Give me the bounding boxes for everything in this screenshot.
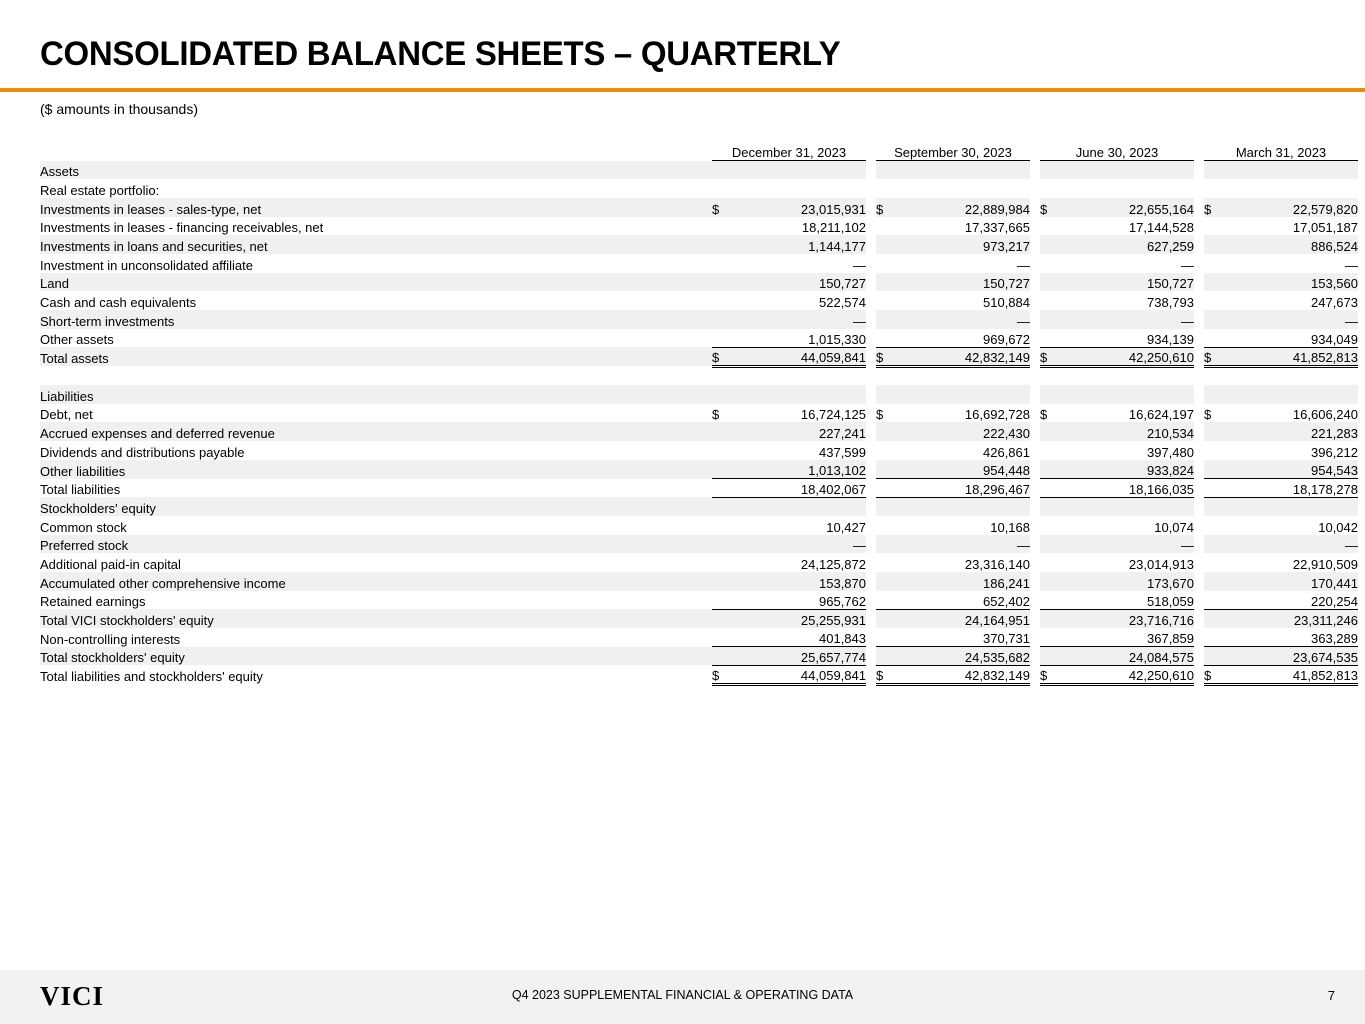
- value-cell: 24,535,682: [898, 647, 1030, 666]
- column-gap: [866, 273, 876, 292]
- currency-symbol-cell: [1040, 609, 1062, 628]
- currency-symbol-cell: [1040, 460, 1062, 479]
- table-row: Other assets1,015,330969,672934,139934,0…: [40, 329, 1358, 348]
- column-gap: [1030, 385, 1040, 404]
- column-gap: [866, 572, 876, 591]
- value-cell: —: [1226, 254, 1358, 273]
- currency-symbol-cell: [876, 329, 898, 348]
- value-cell: 16,606,240: [1226, 404, 1358, 423]
- currency-symbol-cell: [1204, 217, 1226, 236]
- table-row: Accumulated other comprehensive income15…: [40, 572, 1358, 591]
- row-label: Total stockholders' equity: [40, 647, 712, 666]
- row-label: Preferred stock: [40, 535, 712, 554]
- currency-symbol-cell: [876, 609, 898, 628]
- currency-symbol-cell: $: [712, 347, 734, 366]
- value-cell: [734, 161, 866, 180]
- value-cell: 24,164,951: [898, 609, 1030, 628]
- value-cell: 965,762: [734, 591, 866, 610]
- currency-symbol-cell: [712, 291, 734, 310]
- currency-symbol-cell: [876, 553, 898, 572]
- value-cell: 10,042: [1226, 516, 1358, 535]
- value-cell: 17,144,528: [1062, 217, 1194, 236]
- value-cell: 10,168: [898, 516, 1030, 535]
- table-row: Common stock10,42710,16810,07410,042: [40, 516, 1358, 535]
- value-cell: 426,861: [898, 441, 1030, 460]
- value-cell: 397,480: [1062, 441, 1194, 460]
- currency-symbol-cell: [1204, 329, 1226, 348]
- table-row: Accrued expenses and deferred revenue227…: [40, 422, 1358, 441]
- value-cell: 22,655,164: [1062, 198, 1194, 217]
- row-label: Dividends and distributions payable: [40, 441, 712, 460]
- value-cell: 23,674,535: [1226, 647, 1358, 666]
- column-gap: [1030, 609, 1040, 628]
- row-label: Accrued expenses and deferred revenue: [40, 422, 712, 441]
- value-cell: 22,910,509: [1226, 553, 1358, 572]
- column-gap: [1030, 404, 1040, 423]
- currency-symbol-cell: [876, 591, 898, 610]
- column-gap: [1030, 198, 1040, 217]
- column-gap: [1030, 217, 1040, 236]
- currency-symbol-cell: $: [1040, 198, 1062, 217]
- row-label: Additional paid-in capital: [40, 553, 712, 572]
- value-cell: [734, 179, 866, 198]
- units-note: ($ amounts in thousands): [40, 99, 198, 119]
- column-gap: [1030, 347, 1040, 366]
- value-cell: [1226, 497, 1358, 516]
- column-gap: [1194, 647, 1204, 666]
- column-gap: [1030, 516, 1040, 535]
- value-cell: 42,250,610: [1062, 347, 1194, 366]
- value-cell: 227,241: [734, 422, 866, 441]
- value-cell: 221,283: [1226, 422, 1358, 441]
- column-gap: [1030, 628, 1040, 647]
- currency-symbol-cell: [712, 535, 734, 554]
- currency-symbol-cell: [712, 161, 734, 180]
- row-label: Other assets: [40, 329, 712, 348]
- currency-symbol-cell: [1204, 291, 1226, 310]
- currency-symbol-cell: $: [1204, 347, 1226, 366]
- currency-symbol-cell: [1204, 273, 1226, 292]
- value-cell: [734, 497, 866, 516]
- currency-symbol-cell: $: [712, 404, 734, 423]
- currency-symbol-cell: [712, 516, 734, 535]
- value-cell: 150,727: [898, 273, 1030, 292]
- value-cell: 738,793: [1062, 291, 1194, 310]
- value-cell: 22,889,984: [898, 198, 1030, 217]
- currency-symbol-cell: [712, 179, 734, 198]
- currency-symbol-cell: $: [876, 665, 898, 684]
- currency-symbol-cell: [1204, 422, 1226, 441]
- column-gap: [866, 647, 876, 666]
- currency-symbol-cell: [712, 572, 734, 591]
- column-gap: [1194, 179, 1204, 198]
- currency-symbol-cell: [876, 497, 898, 516]
- currency-symbol-cell: [876, 647, 898, 666]
- value-cell: [1062, 385, 1194, 404]
- value-cell: 627,259: [1062, 235, 1194, 254]
- column-gap: [1194, 273, 1204, 292]
- value-cell: —: [734, 254, 866, 273]
- row-label: Assets: [40, 161, 712, 180]
- value-cell: 150,727: [734, 273, 866, 292]
- table-row: Short-term investments————: [40, 310, 1358, 329]
- value-cell: 210,534: [1062, 422, 1194, 441]
- column-gap: [866, 217, 876, 236]
- column-gap: [1030, 479, 1040, 498]
- value-cell: 10,427: [734, 516, 866, 535]
- header-gap: [1194, 138, 1204, 161]
- value-cell: [734, 385, 866, 404]
- currency-symbol-cell: [1204, 516, 1226, 535]
- column-gap: [1030, 572, 1040, 591]
- value-cell: 170,441: [1226, 572, 1358, 591]
- value-cell: 886,524: [1226, 235, 1358, 254]
- currency-symbol-cell: [1040, 479, 1062, 498]
- row-label: Retained earnings: [40, 591, 712, 610]
- value-cell: 23,014,913: [1062, 553, 1194, 572]
- column-gap: [1194, 497, 1204, 516]
- currency-symbol-cell: $: [1040, 347, 1062, 366]
- value-cell: 173,670: [1062, 572, 1194, 591]
- table-row: Cash and cash equivalents522,574510,8847…: [40, 291, 1358, 310]
- currency-symbol-cell: [712, 647, 734, 666]
- currency-symbol-cell: [1204, 310, 1226, 329]
- currency-symbol-cell: [712, 460, 734, 479]
- value-cell: [1062, 179, 1194, 198]
- column-gap: [1194, 479, 1204, 498]
- currency-symbol-cell: [1040, 254, 1062, 273]
- value-cell: 22,579,820: [1226, 198, 1358, 217]
- page-title: CONSOLIDATED BALANCE SHEETS – QUARTERLY: [40, 32, 840, 76]
- value-cell: 24,084,575: [1062, 647, 1194, 666]
- value-cell: 969,672: [898, 329, 1030, 348]
- currency-symbol-cell: [876, 422, 898, 441]
- value-cell: —: [898, 535, 1030, 554]
- column-gap: [1194, 591, 1204, 610]
- value-cell: 41,852,813: [1226, 347, 1358, 366]
- column-gap: [866, 291, 876, 310]
- currency-symbol-cell: $: [876, 404, 898, 423]
- column-gap: [1194, 217, 1204, 236]
- column-gap: [1030, 235, 1040, 254]
- currency-symbol-cell: [1040, 497, 1062, 516]
- value-cell: 401,843: [734, 628, 866, 647]
- value-cell: —: [1226, 310, 1358, 329]
- currency-symbol-cell: $: [876, 347, 898, 366]
- table-row: Investments in loans and securities, net…: [40, 235, 1358, 254]
- currency-symbol-cell: [712, 609, 734, 628]
- value-cell: 16,624,197: [1062, 404, 1194, 423]
- table-row: Total VICI stockholders' equity25,255,93…: [40, 609, 1358, 628]
- value-cell: 24,125,872: [734, 553, 866, 572]
- table-row: Assets: [40, 161, 1358, 180]
- column-gap: [866, 385, 876, 404]
- column-gap: [1194, 385, 1204, 404]
- value-cell: —: [1062, 535, 1194, 554]
- currency-symbol-cell: [1040, 591, 1062, 610]
- value-cell: 954,448: [898, 460, 1030, 479]
- currency-symbol-cell: [712, 385, 734, 404]
- value-cell: 18,402,067: [734, 479, 866, 498]
- value-cell: 222,430: [898, 422, 1030, 441]
- row-label: Land: [40, 273, 712, 292]
- currency-symbol-cell: $: [1040, 665, 1062, 684]
- column-gap: [866, 628, 876, 647]
- currency-symbol-cell: [876, 479, 898, 498]
- column-gap: [1194, 460, 1204, 479]
- column-gap: [1194, 441, 1204, 460]
- value-cell: 396,212: [1226, 441, 1358, 460]
- currency-symbol-cell: [1204, 179, 1226, 198]
- currency-symbol-cell: [1204, 628, 1226, 647]
- currency-symbol-cell: [712, 553, 734, 572]
- column-gap: [1194, 347, 1204, 366]
- currency-symbol-cell: [1204, 647, 1226, 666]
- column-gap: [866, 591, 876, 610]
- column-gap: [866, 179, 876, 198]
- footer-caption: Q4 2023 SUPPLEMENTAL FINANCIAL & OPERATI…: [0, 988, 1365, 1002]
- column-gap: [1194, 572, 1204, 591]
- value-cell: 522,574: [734, 291, 866, 310]
- header-gap: [866, 138, 876, 161]
- column-header-3: March 31, 2023: [1204, 138, 1358, 161]
- currency-symbol-cell: $: [1204, 198, 1226, 217]
- row-label: Non-controlling interests: [40, 628, 712, 647]
- row-label: Investment in unconsolidated affiliate: [40, 254, 712, 273]
- value-cell: 42,250,610: [1062, 665, 1194, 684]
- value-cell: —: [898, 254, 1030, 273]
- value-cell: 42,832,149: [898, 665, 1030, 684]
- column-gap: [1194, 198, 1204, 217]
- column-gap: [866, 329, 876, 348]
- column-gap: [866, 665, 876, 684]
- table-row: Investments in leases - sales-type, net$…: [40, 198, 1358, 217]
- currency-symbol-cell: [712, 628, 734, 647]
- currency-symbol-cell: [876, 273, 898, 292]
- column-gap: [866, 535, 876, 554]
- row-label: Other liabilities: [40, 460, 712, 479]
- currency-symbol-cell: [1040, 422, 1062, 441]
- currency-symbol-cell: [712, 441, 734, 460]
- column-gap: [1030, 329, 1040, 348]
- column-gap: [1030, 273, 1040, 292]
- column-gap: [866, 404, 876, 423]
- column-gap: [1194, 628, 1204, 647]
- value-cell: 1,144,177: [734, 235, 866, 254]
- value-cell: 17,051,187: [1226, 217, 1358, 236]
- table-row: Preferred stock————: [40, 535, 1358, 554]
- table-row: Investment in unconsolidated affiliate——…: [40, 254, 1358, 273]
- table-row: Other liabilities1,013,102954,448933,824…: [40, 460, 1358, 479]
- value-cell: 18,166,035: [1062, 479, 1194, 498]
- currency-symbol-cell: [876, 628, 898, 647]
- currency-symbol-cell: [1204, 479, 1226, 498]
- table-row: Retained earnings965,762652,402518,05922…: [40, 591, 1358, 610]
- currency-symbol-cell: [876, 217, 898, 236]
- currency-symbol-cell: [1040, 217, 1062, 236]
- column-gap: [866, 609, 876, 628]
- table-spacer-row: [40, 366, 1358, 385]
- column-gap: [1030, 179, 1040, 198]
- currency-symbol-cell: [1040, 310, 1062, 329]
- currency-symbol-cell: [876, 235, 898, 254]
- currency-symbol-cell: [1040, 235, 1062, 254]
- value-cell: 10,074: [1062, 516, 1194, 535]
- currency-symbol-cell: [876, 254, 898, 273]
- value-cell: —: [734, 535, 866, 554]
- row-label: Investments in leases - financing receiv…: [40, 217, 712, 236]
- table-row: Land150,727150,727150,727153,560: [40, 273, 1358, 292]
- currency-symbol-cell: [1204, 254, 1226, 273]
- value-cell: [1226, 179, 1358, 198]
- currency-symbol-cell: $: [1204, 665, 1226, 684]
- table-row: Total liabilities18,402,06718,296,46718,…: [40, 479, 1358, 498]
- row-label: Real estate portfolio:: [40, 179, 712, 198]
- column-gap: [866, 441, 876, 460]
- column-header-1: September 30, 2023: [876, 138, 1030, 161]
- currency-symbol-cell: [712, 422, 734, 441]
- value-cell: 16,724,125: [734, 404, 866, 423]
- table-row: Dividends and distributions payable437,5…: [40, 441, 1358, 460]
- row-label: Cash and cash equivalents: [40, 291, 712, 310]
- value-cell: [1062, 161, 1194, 180]
- currency-symbol-cell: [876, 385, 898, 404]
- currency-symbol-cell: [876, 516, 898, 535]
- column-gap: [1194, 553, 1204, 572]
- value-cell: 44,059,841: [734, 347, 866, 366]
- value-cell: 23,716,716: [1062, 609, 1194, 628]
- currency-symbol-cell: [876, 179, 898, 198]
- currency-symbol-cell: [876, 161, 898, 180]
- currency-symbol-cell: [1040, 329, 1062, 348]
- currency-symbol-cell: [876, 441, 898, 460]
- currency-symbol-cell: [1204, 572, 1226, 591]
- column-gap: [866, 310, 876, 329]
- column-gap: [866, 553, 876, 572]
- column-gap: [1030, 535, 1040, 554]
- value-cell: 247,673: [1226, 291, 1358, 310]
- column-gap: [1194, 665, 1204, 684]
- column-gap: [1030, 460, 1040, 479]
- row-label: Total liabilities: [40, 479, 712, 498]
- value-cell: 18,211,102: [734, 217, 866, 236]
- currency-symbol-cell: [1204, 535, 1226, 554]
- column-gap: [1030, 497, 1040, 516]
- column-gap: [1030, 647, 1040, 666]
- currency-symbol-cell: [1204, 385, 1226, 404]
- currency-symbol-cell: [1204, 235, 1226, 254]
- value-cell: 25,657,774: [734, 647, 866, 666]
- currency-symbol-cell: $: [712, 665, 734, 684]
- value-cell: 17,337,665: [898, 217, 1030, 236]
- value-cell: 16,692,728: [898, 404, 1030, 423]
- column-gap: [1194, 516, 1204, 535]
- header-gap: [1030, 138, 1040, 161]
- value-cell: 367,859: [1062, 628, 1194, 647]
- value-cell: [1226, 161, 1358, 180]
- column-gap: [866, 479, 876, 498]
- row-label: Short-term investments: [40, 310, 712, 329]
- column-gap: [1194, 422, 1204, 441]
- value-cell: 510,884: [898, 291, 1030, 310]
- value-cell: [898, 385, 1030, 404]
- column-gap: [1194, 161, 1204, 180]
- currency-symbol-cell: [1040, 273, 1062, 292]
- table-row: Total stockholders' equity25,657,77424,5…: [40, 647, 1358, 666]
- value-cell: 42,832,149: [898, 347, 1030, 366]
- value-cell: 153,870: [734, 572, 866, 591]
- currency-symbol-cell: [1040, 572, 1062, 591]
- value-cell: [898, 497, 1030, 516]
- currency-symbol-cell: [712, 254, 734, 273]
- column-gap: [1030, 665, 1040, 684]
- column-gap: [1194, 609, 1204, 628]
- table-body: AssetsReal estate portfolio:Investments …: [40, 161, 1358, 685]
- column-gap: [866, 161, 876, 180]
- row-label: Investments in loans and securities, net: [40, 235, 712, 254]
- value-cell: 18,296,467: [898, 479, 1030, 498]
- column-gap: [1030, 553, 1040, 572]
- column-gap: [866, 347, 876, 366]
- row-label: Accumulated other comprehensive income: [40, 572, 712, 591]
- currency-symbol-cell: [1204, 460, 1226, 479]
- value-cell: 370,731: [898, 628, 1030, 647]
- column-gap: [1194, 235, 1204, 254]
- row-label: Total liabilities and stockholders' equi…: [40, 665, 712, 684]
- table-row: Non-controlling interests401,843370,7313…: [40, 628, 1358, 647]
- currency-symbol-cell: [876, 460, 898, 479]
- value-cell: 934,139: [1062, 329, 1194, 348]
- column-gap: [866, 497, 876, 516]
- value-cell: 25,255,931: [734, 609, 866, 628]
- column-gap: [1030, 591, 1040, 610]
- value-cell: 220,254: [1226, 591, 1358, 610]
- column-gap: [1194, 254, 1204, 273]
- row-label: Investments in leases - sales-type, net: [40, 198, 712, 217]
- value-cell: 23,311,246: [1226, 609, 1358, 628]
- table-row: Liabilities: [40, 385, 1358, 404]
- currency-symbol-cell: $: [712, 198, 734, 217]
- currency-symbol-cell: [876, 572, 898, 591]
- value-cell: 933,824: [1062, 460, 1194, 479]
- row-label: Total assets: [40, 347, 712, 366]
- currency-symbol-cell: [712, 235, 734, 254]
- currency-symbol-cell: [1040, 441, 1062, 460]
- value-cell: 1,013,102: [734, 460, 866, 479]
- currency-symbol-cell: [712, 217, 734, 236]
- column-gap: [866, 254, 876, 273]
- value-cell: 1,015,330: [734, 329, 866, 348]
- value-cell: 363,289: [1226, 628, 1358, 647]
- currency-symbol-cell: [712, 497, 734, 516]
- value-cell: 44,059,841: [734, 665, 866, 684]
- currency-symbol-cell: [712, 591, 734, 610]
- column-gap: [1194, 310, 1204, 329]
- column-gap: [866, 235, 876, 254]
- row-label: Common stock: [40, 516, 712, 535]
- currency-symbol-cell: [712, 479, 734, 498]
- value-cell: 153,560: [1226, 273, 1358, 292]
- table-row: Debt, net$16,724,125$16,692,728$16,624,1…: [40, 404, 1358, 423]
- table-row: Stockholders' equity: [40, 497, 1358, 516]
- currency-symbol-cell: [1204, 553, 1226, 572]
- accent-bar: [0, 88, 1365, 92]
- balance-sheet-table: December 31, 2023 September 30, 2023 Jun…: [40, 138, 1358, 686]
- table-header-row: December 31, 2023 September 30, 2023 Jun…: [40, 138, 1358, 161]
- column-gap: [1194, 291, 1204, 310]
- currency-symbol-cell: [712, 310, 734, 329]
- column-gap: [866, 198, 876, 217]
